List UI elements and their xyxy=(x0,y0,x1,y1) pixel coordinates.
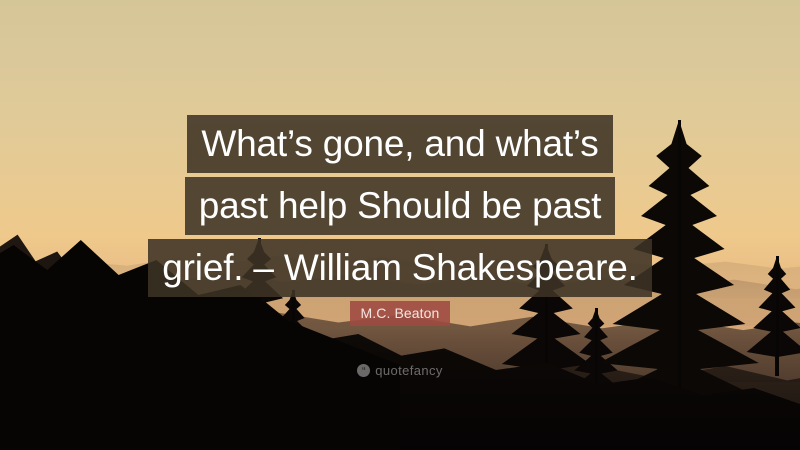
quote-glyph: “ xyxy=(362,367,366,375)
quote-line-3: grief. – William Shakespeare. xyxy=(148,239,651,297)
quotefancy-logo-icon: “ xyxy=(357,364,370,377)
quote-text-block: What’s gone, and what’s past help Should… xyxy=(0,115,800,301)
quote-line-2: past help Should be past xyxy=(185,177,616,235)
quote-card: What’s gone, and what’s past help Should… xyxy=(0,0,800,450)
quotefancy-watermark: “ quotefancy xyxy=(0,364,800,377)
author-badge: M.C. Beaton xyxy=(350,301,451,326)
quote-line-1: What’s gone, and what’s xyxy=(187,115,612,173)
attribution-wrapper: M.C. Beaton xyxy=(0,301,800,326)
watermark-label: quotefancy xyxy=(375,364,443,377)
